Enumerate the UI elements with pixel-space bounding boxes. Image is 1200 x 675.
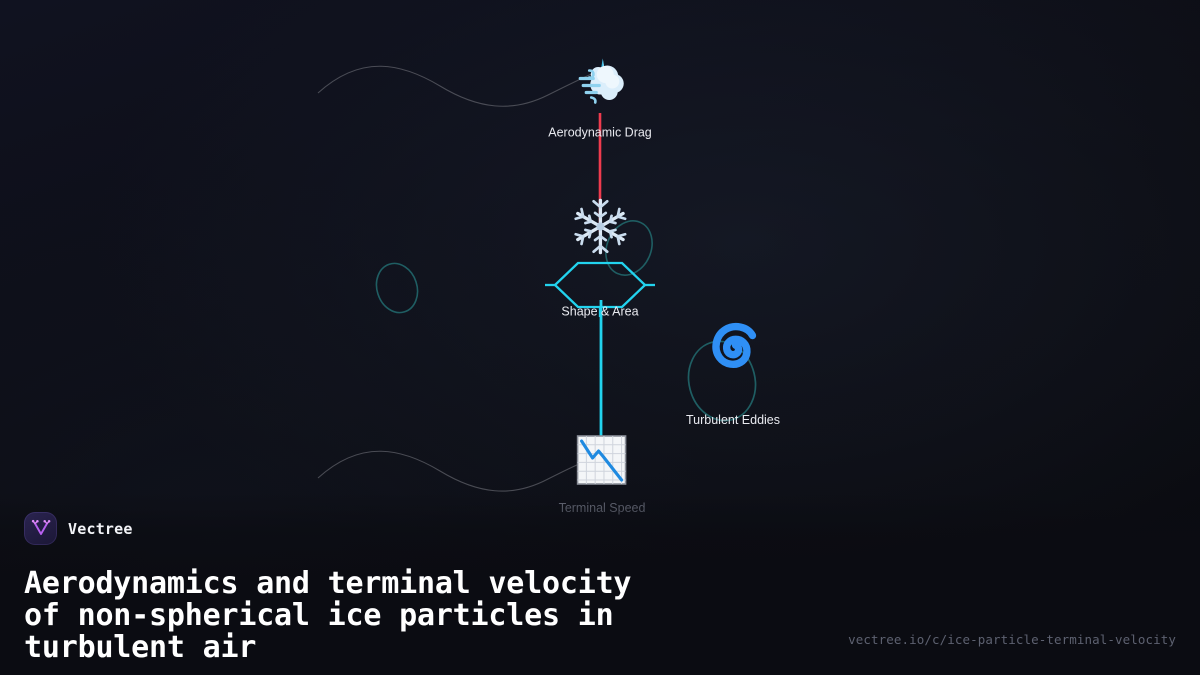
footer-url: vectree.io/c/ice-particle-terminal-veloc… <box>848 632 1176 647</box>
cyclone-icon <box>705 321 761 382</box>
node-label-terminal-speed: Terminal Speed <box>559 501 646 515</box>
diagram-node-terminal-speed[interactable]: Terminal Speed <box>559 435 646 515</box>
diagram-node-shape-area[interactable]: Shape & Area <box>561 196 638 319</box>
node-label-aerodynamic-drag: Aerodynamic Drag <box>548 126 652 140</box>
poster-canvas: Aerodynamic Drag <box>0 0 1200 675</box>
diagram-node-turbulent-eddies[interactable]: Turbulent Eddies <box>686 321 780 427</box>
vectree-v-tree-icon <box>24 512 57 545</box>
wind-cloud-icon <box>569 51 631 118</box>
chart-decreasing-icon <box>577 435 627 490</box>
snowflake-icon <box>569 196 631 263</box>
decorative-ellipse-left <box>370 258 423 318</box>
diagram-node-aerodynamic-drag[interactable]: Aerodynamic Drag <box>548 51 652 140</box>
brand-row: Vectree <box>24 512 133 545</box>
node-label-shape-area: Shape & Area <box>561 305 638 319</box>
node-label-turbulent-eddies: Turbulent Eddies <box>686 413 780 427</box>
brand-name: Vectree <box>68 520 133 538</box>
decorative-wave-bottom <box>318 451 596 491</box>
page-title: Aerodynamics and terminal velocity of no… <box>24 568 814 664</box>
